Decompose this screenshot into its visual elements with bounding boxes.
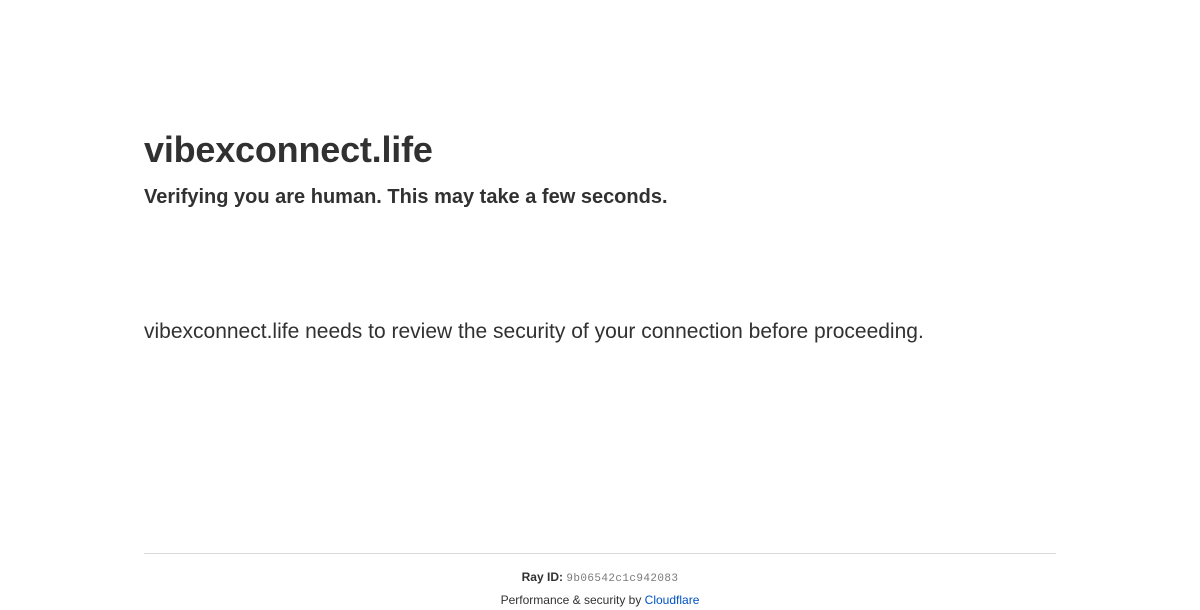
challenge-page: vibexconnect.life Verifying you are huma… [0, 0, 1200, 600]
attribution-prefix: Performance & security by [501, 593, 645, 607]
challenge-description: vibexconnect.life needs to review the se… [144, 314, 944, 350]
footer: Ray ID: 9b06542c1c942083 Performance & s… [144, 553, 1056, 610]
turnstile-widget-slot[interactable] [144, 218, 1056, 314]
ray-id-value: 9b06542c1c942083 [566, 573, 678, 585]
verification-status-text: Verifying you are human. This may take a… [144, 184, 1056, 210]
cloudflare-link[interactable]: Cloudflare [645, 593, 700, 607]
challenge-block: vibexconnect.life Verifying you are huma… [144, 0, 1056, 350]
ray-id-line: Ray ID: 9b06542c1c942083 [144, 568, 1056, 589]
ray-id-label: Ray ID: [522, 570, 563, 584]
attribution-line: Performance & security by Cloudflare [144, 591, 1056, 610]
challenge-content: vibexconnect.life Verifying you are huma… [144, 0, 1056, 350]
page-title: vibexconnect.life [144, 128, 1056, 172]
